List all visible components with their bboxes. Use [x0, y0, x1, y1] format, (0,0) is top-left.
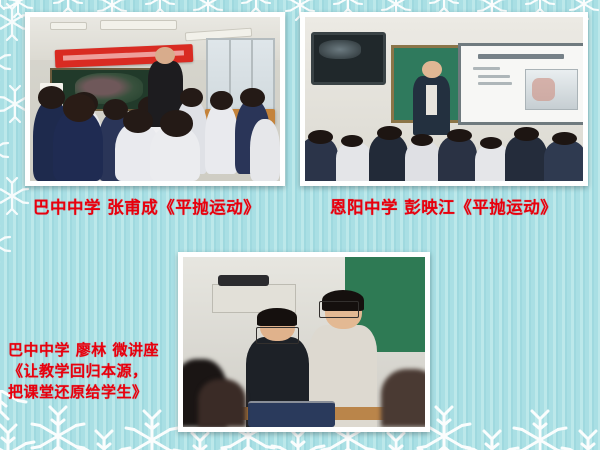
caption-photo-1: 巴中中学 张甫成《平抛运动》	[33, 194, 260, 218]
photo-2-image	[305, 17, 583, 181]
photo-seated-observers[interactable]	[178, 252, 430, 432]
caption-photo-3-line-1: 巴中中学 廖林 微讲座	[8, 340, 173, 361]
photo-teacher-smartboard[interactable]	[300, 12, 588, 186]
slide-canvas: 巴中中学 张甫成《平抛运动》 恩阳中学 彭映江《平抛运动》 巴中中学 廖林 微讲…	[0, 0, 600, 450]
photo-1-image	[30, 17, 280, 181]
caption-photo-3: 巴中中学 廖林 微讲座 《让教学回归本源， 把课堂还原给学生》	[8, 340, 173, 403]
caption-photo-3-line-2: 《让教学回归本源，	[8, 361, 173, 382]
caption-photo-3-line-3: 把课堂还原给学生》	[8, 382, 173, 403]
caption-photo-2: 恩阳中学 彭映江《平抛运动》	[330, 194, 557, 218]
photo-3-image	[183, 257, 425, 427]
photo-classroom-group-work[interactable]	[25, 12, 285, 186]
